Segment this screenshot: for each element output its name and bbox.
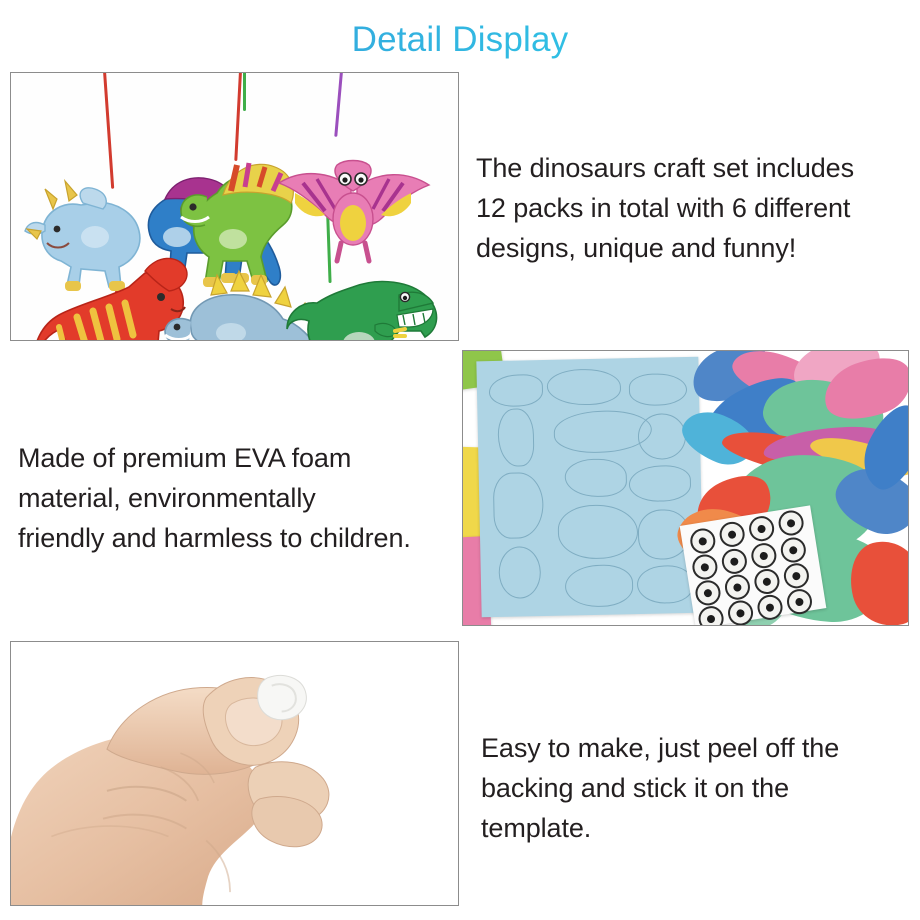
googly-eye-sticker [691, 553, 720, 582]
hanging-string-green-1 [243, 72, 246, 111]
feature-line: Made of premium EVA foam [18, 438, 458, 478]
feature-text-material: Made of premium EVA foam material, envir… [18, 438, 458, 558]
googly-eye-sticker [697, 604, 726, 626]
googly-eye-sticker [750, 541, 779, 570]
googly-eye-sticker [779, 536, 808, 565]
feature-text-set-contents: The dinosaurs craft set includes 12 pack… [476, 148, 900, 268]
googly-eye-sticker [747, 514, 776, 543]
panel-finished-dinosaurs [10, 72, 459, 341]
hanging-string-red-2 [234, 72, 242, 161]
feature-line: designs, unique and funny! [476, 228, 900, 268]
page-title: Detail Display [0, 18, 920, 62]
panel-eva-foam-materials [462, 350, 909, 626]
hand-peeling-photo [11, 642, 458, 905]
feature-line: backing and stick it on the [481, 768, 901, 808]
dinosaur-photo [11, 73, 458, 340]
feature-text-easy-to-make: Easy to make, just peel off the backing … [481, 728, 901, 848]
hanging-string-purple [334, 72, 343, 137]
feature-line: 12 packs in total with 6 different [476, 188, 900, 228]
feature-line: material, environmentally [18, 478, 458, 518]
googly-eye-sticker [694, 579, 723, 608]
dinosaur-tyrannosaurus [287, 259, 449, 341]
googly-eye-sticker-sheet [680, 505, 827, 626]
feature-line: The dinosaurs craft set includes [476, 148, 900, 188]
googly-eye-sticker [689, 527, 718, 556]
googly-eye-sticker [777, 509, 806, 538]
feature-line: Easy to make, just peel off the [481, 728, 901, 768]
googly-eye-sticker [782, 562, 811, 591]
die-cut-foam-sheet [476, 357, 703, 618]
googly-eye-sticker [720, 547, 749, 576]
foam-materials-photo [463, 351, 908, 625]
feature-line: friendly and harmless to children. [18, 518, 458, 558]
googly-eye-sticker [723, 573, 752, 602]
googly-eye-sticker [753, 567, 782, 596]
feature-line: template. [481, 808, 901, 848]
panel-peel-backing [10, 641, 459, 906]
googly-eye-sticker [718, 520, 747, 549]
